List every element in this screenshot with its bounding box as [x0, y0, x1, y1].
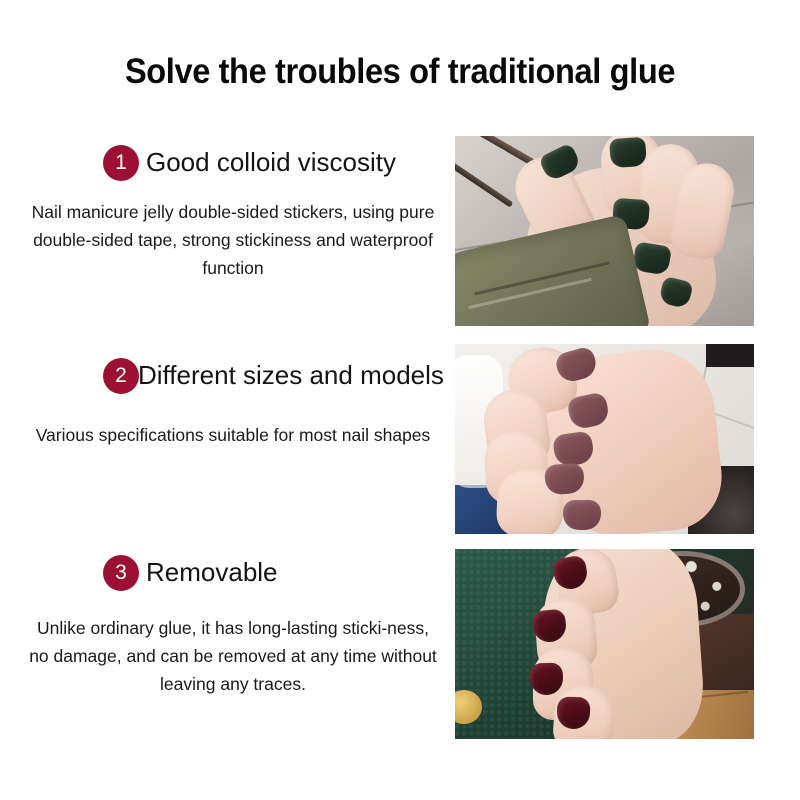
- photo-hand-dark-green-nails: [455, 136, 754, 326]
- photo-hands-mauve-nails: [455, 344, 754, 534]
- product-feature-page: Solve the troubles of traditional glue 1…: [0, 0, 800, 800]
- feature-title-2: Different sizes and models: [138, 355, 444, 395]
- feature-title-3: Removable: [146, 552, 278, 592]
- feature-item-3: 3 Removable Unlike ordinary glue, it has…: [18, 552, 448, 698]
- feature-number-badge-1: 1: [103, 145, 139, 181]
- feature-number-badge-3: 3: [103, 555, 139, 591]
- feature-heading-1: Good colloid viscosity: [18, 142, 448, 182]
- feature-title-1: Good colloid viscosity: [146, 142, 396, 182]
- photo-column: [455, 0, 755, 800]
- feature-number-badge-2: 2: [103, 358, 139, 394]
- feature-item-2: 2 Different sizes and models Various spe…: [18, 355, 448, 449]
- feature-heading-3: Removable: [18, 552, 448, 592]
- photo-hand-burgundy-nails: [455, 549, 754, 739]
- feature-item-1: 1 Good colloid viscosity Nail manicure j…: [18, 142, 448, 282]
- feature-body-3: Unlike ordinary glue, it has long-lastin…: [18, 614, 448, 698]
- feature-body-2: Various specifications suitable for most…: [18, 421, 448, 449]
- feature-list: 1 Good colloid viscosity Nail manicure j…: [18, 130, 448, 750]
- feature-body-1: Nail manicure jelly double-sided sticker…: [18, 198, 448, 282]
- feature-heading-2: Different sizes and models: [18, 355, 448, 395]
